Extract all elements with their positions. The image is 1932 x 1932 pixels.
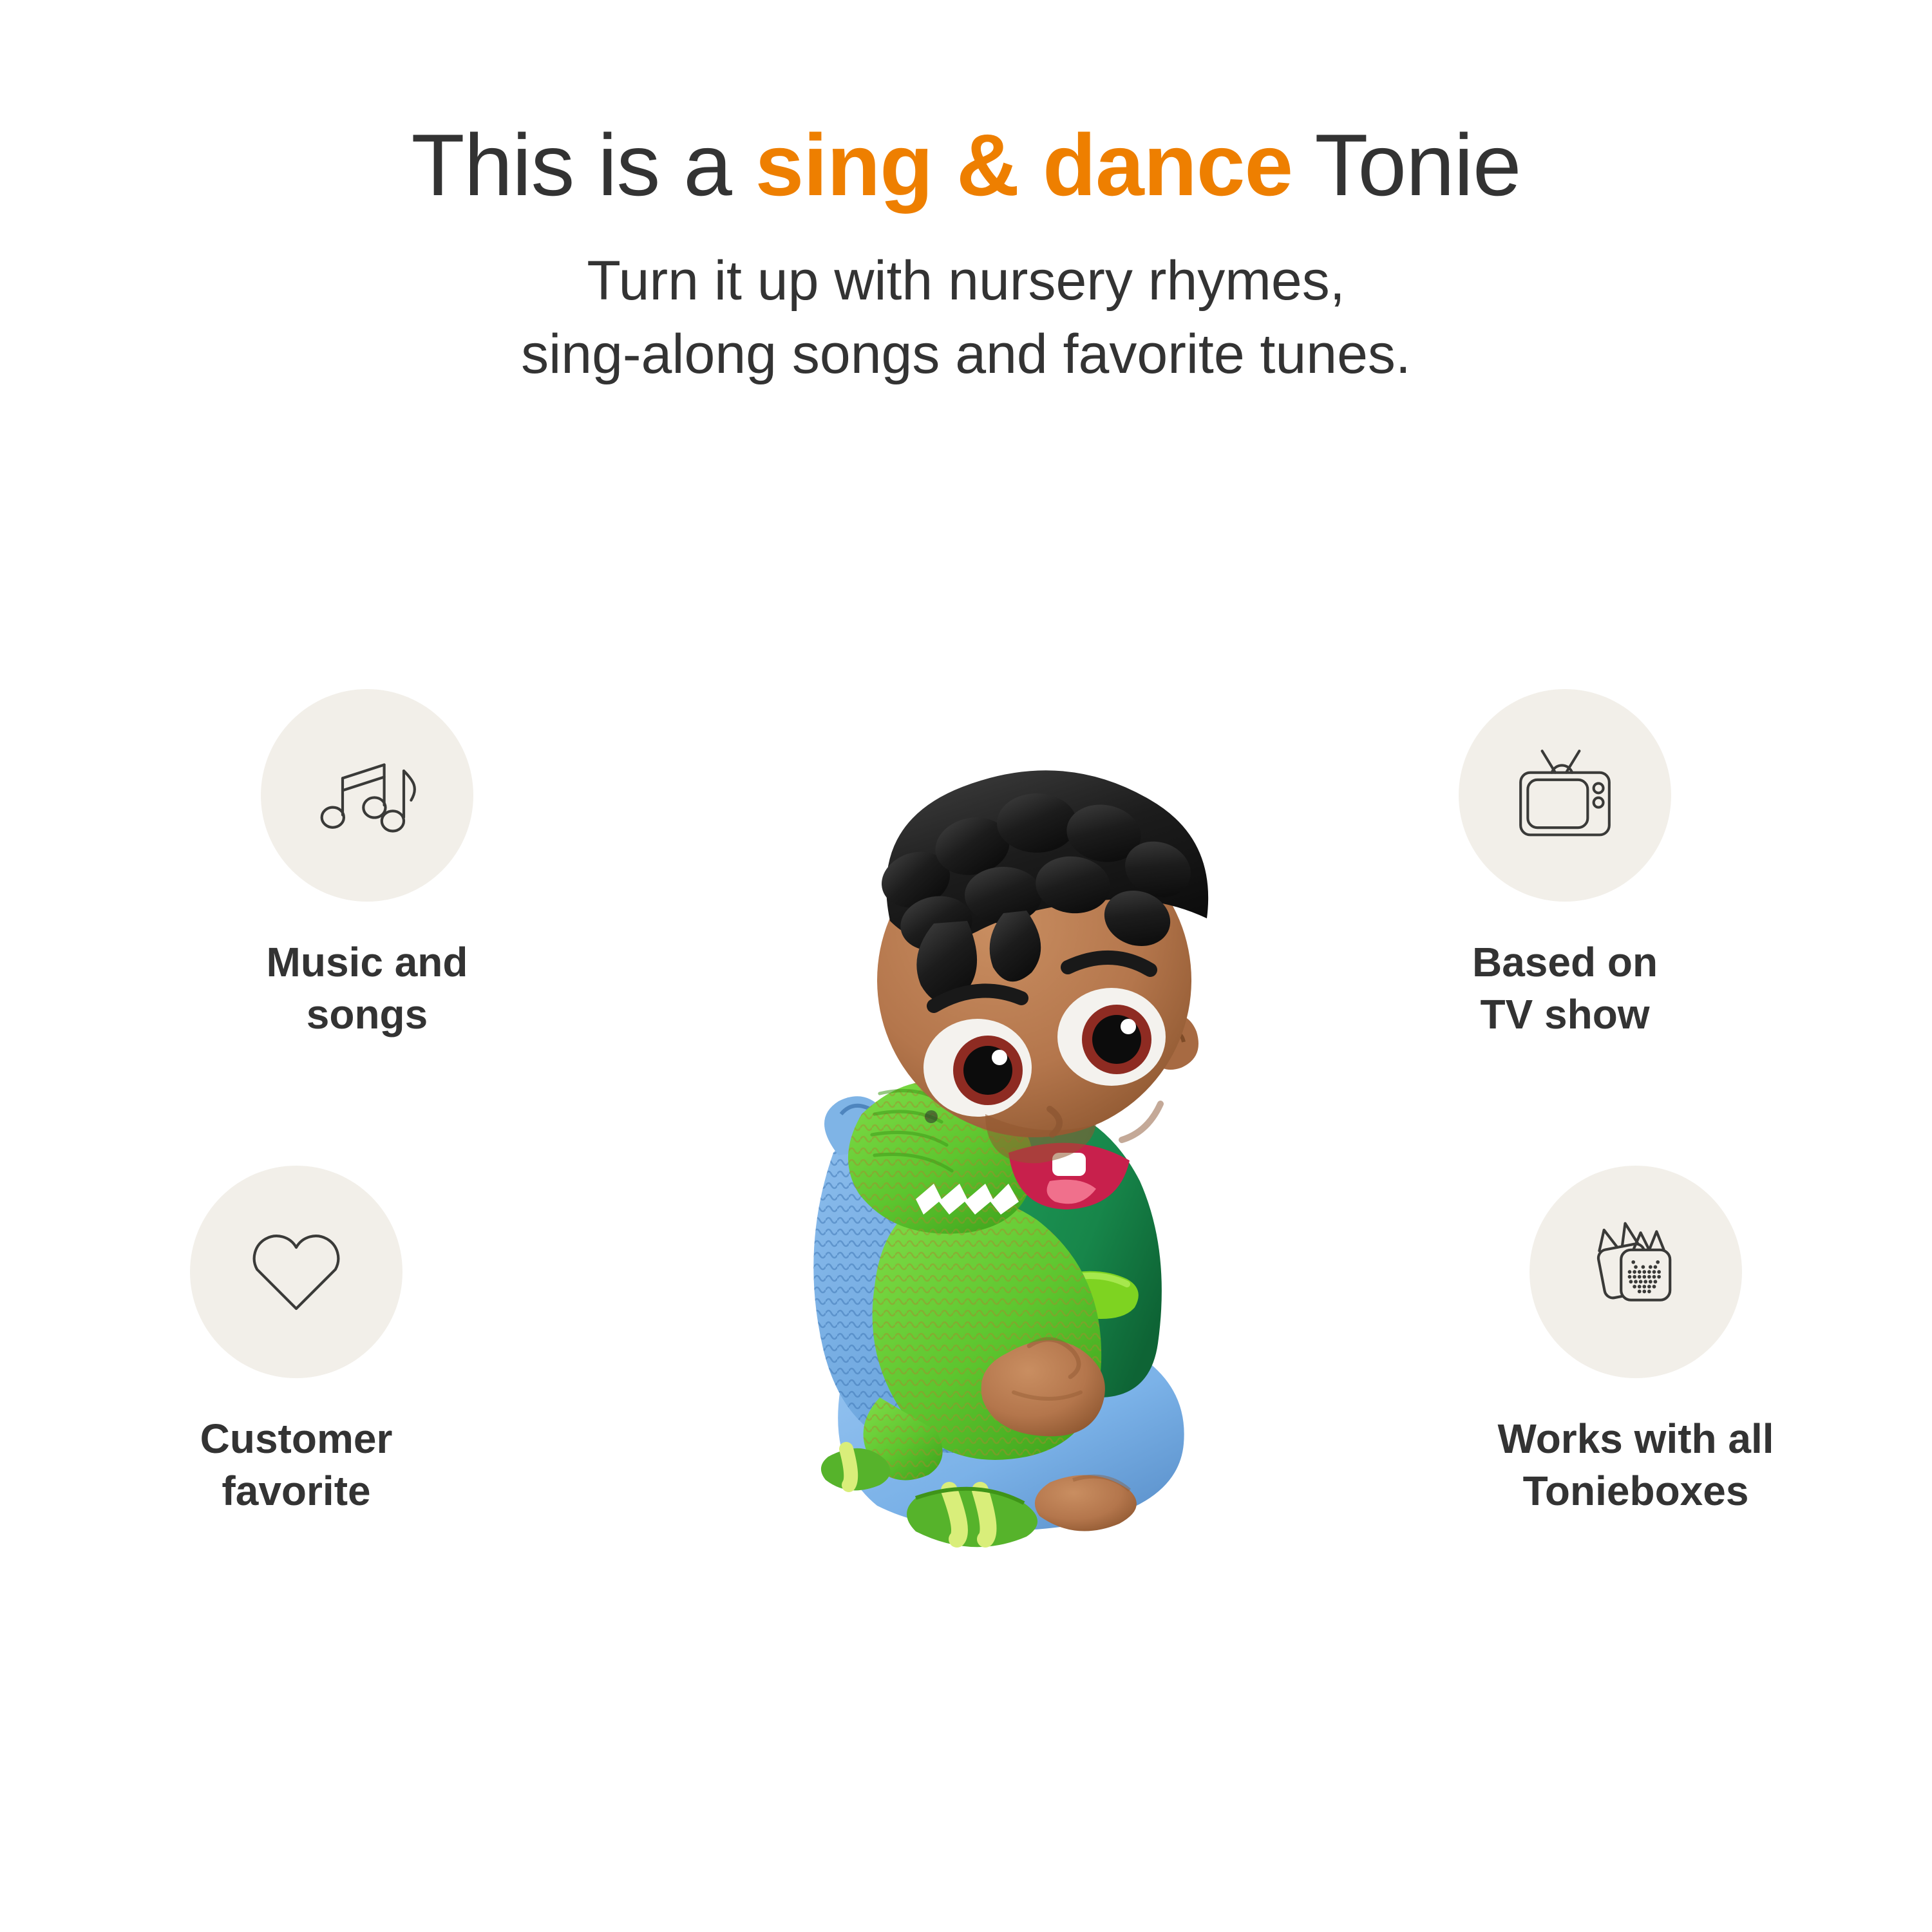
feature-label-favorite: Customer favorite (116, 1413, 477, 1517)
feature-music-and-songs: Music and songs (187, 689, 547, 1040)
feature-label-line-1: Works with all (1455, 1413, 1816, 1465)
icon-circle-toniebox (1529, 1166, 1742, 1378)
subtitle-line-2: sing-along songs and favorite tunes. (0, 318, 1932, 392)
title-highlight: sing & dance (755, 116, 1293, 214)
feature-customer-favorite: Customer favorite (116, 1166, 477, 1517)
icon-circle-heart (190, 1166, 402, 1378)
tv-icon (1505, 735, 1625, 855)
feature-label-tv: Based on TV show (1385, 936, 1745, 1040)
header: This is a sing & dance Tonie Turn it up … (0, 116, 1932, 391)
feature-label-toniebox: Works with all Tonieboxes (1455, 1413, 1816, 1517)
title-suffix: Tonie (1293, 116, 1520, 214)
page-title: This is a sing & dance Tonie (0, 116, 1932, 214)
feature-label-line-2: songs (187, 989, 547, 1041)
title-prefix: This is a (411, 116, 755, 214)
feature-label-line-1: Music and (187, 936, 547, 989)
product-feature-page: This is a sing & dance Tonie Turn it up … (0, 0, 1932, 1932)
product-image (663, 728, 1269, 1616)
heart-icon (235, 1211, 357, 1333)
feature-works-with-all-tonieboxes: Works with all Tonieboxes (1455, 1166, 1816, 1517)
feature-label-music: Music and songs (187, 936, 547, 1040)
icon-circle-tv (1459, 689, 1671, 902)
subtitle-line-1: Turn it up with nursery rhymes, (0, 245, 1932, 318)
icon-circle-music (261, 689, 473, 902)
feature-label-line-2: favorite (116, 1465, 477, 1517)
music-note-icon (306, 734, 428, 857)
toniebox-icon (1575, 1211, 1697, 1333)
feature-based-on-tv-show: Based on TV show (1385, 689, 1745, 1040)
feature-label-line-2: Tonieboxes (1455, 1465, 1816, 1517)
page-subtitle: Turn it up with nursery rhymes, sing-alo… (0, 245, 1932, 391)
feature-label-line-2: TV show (1385, 989, 1745, 1041)
feature-label-line-1: Customer (116, 1413, 477, 1465)
feature-label-line-1: Based on (1385, 936, 1745, 989)
